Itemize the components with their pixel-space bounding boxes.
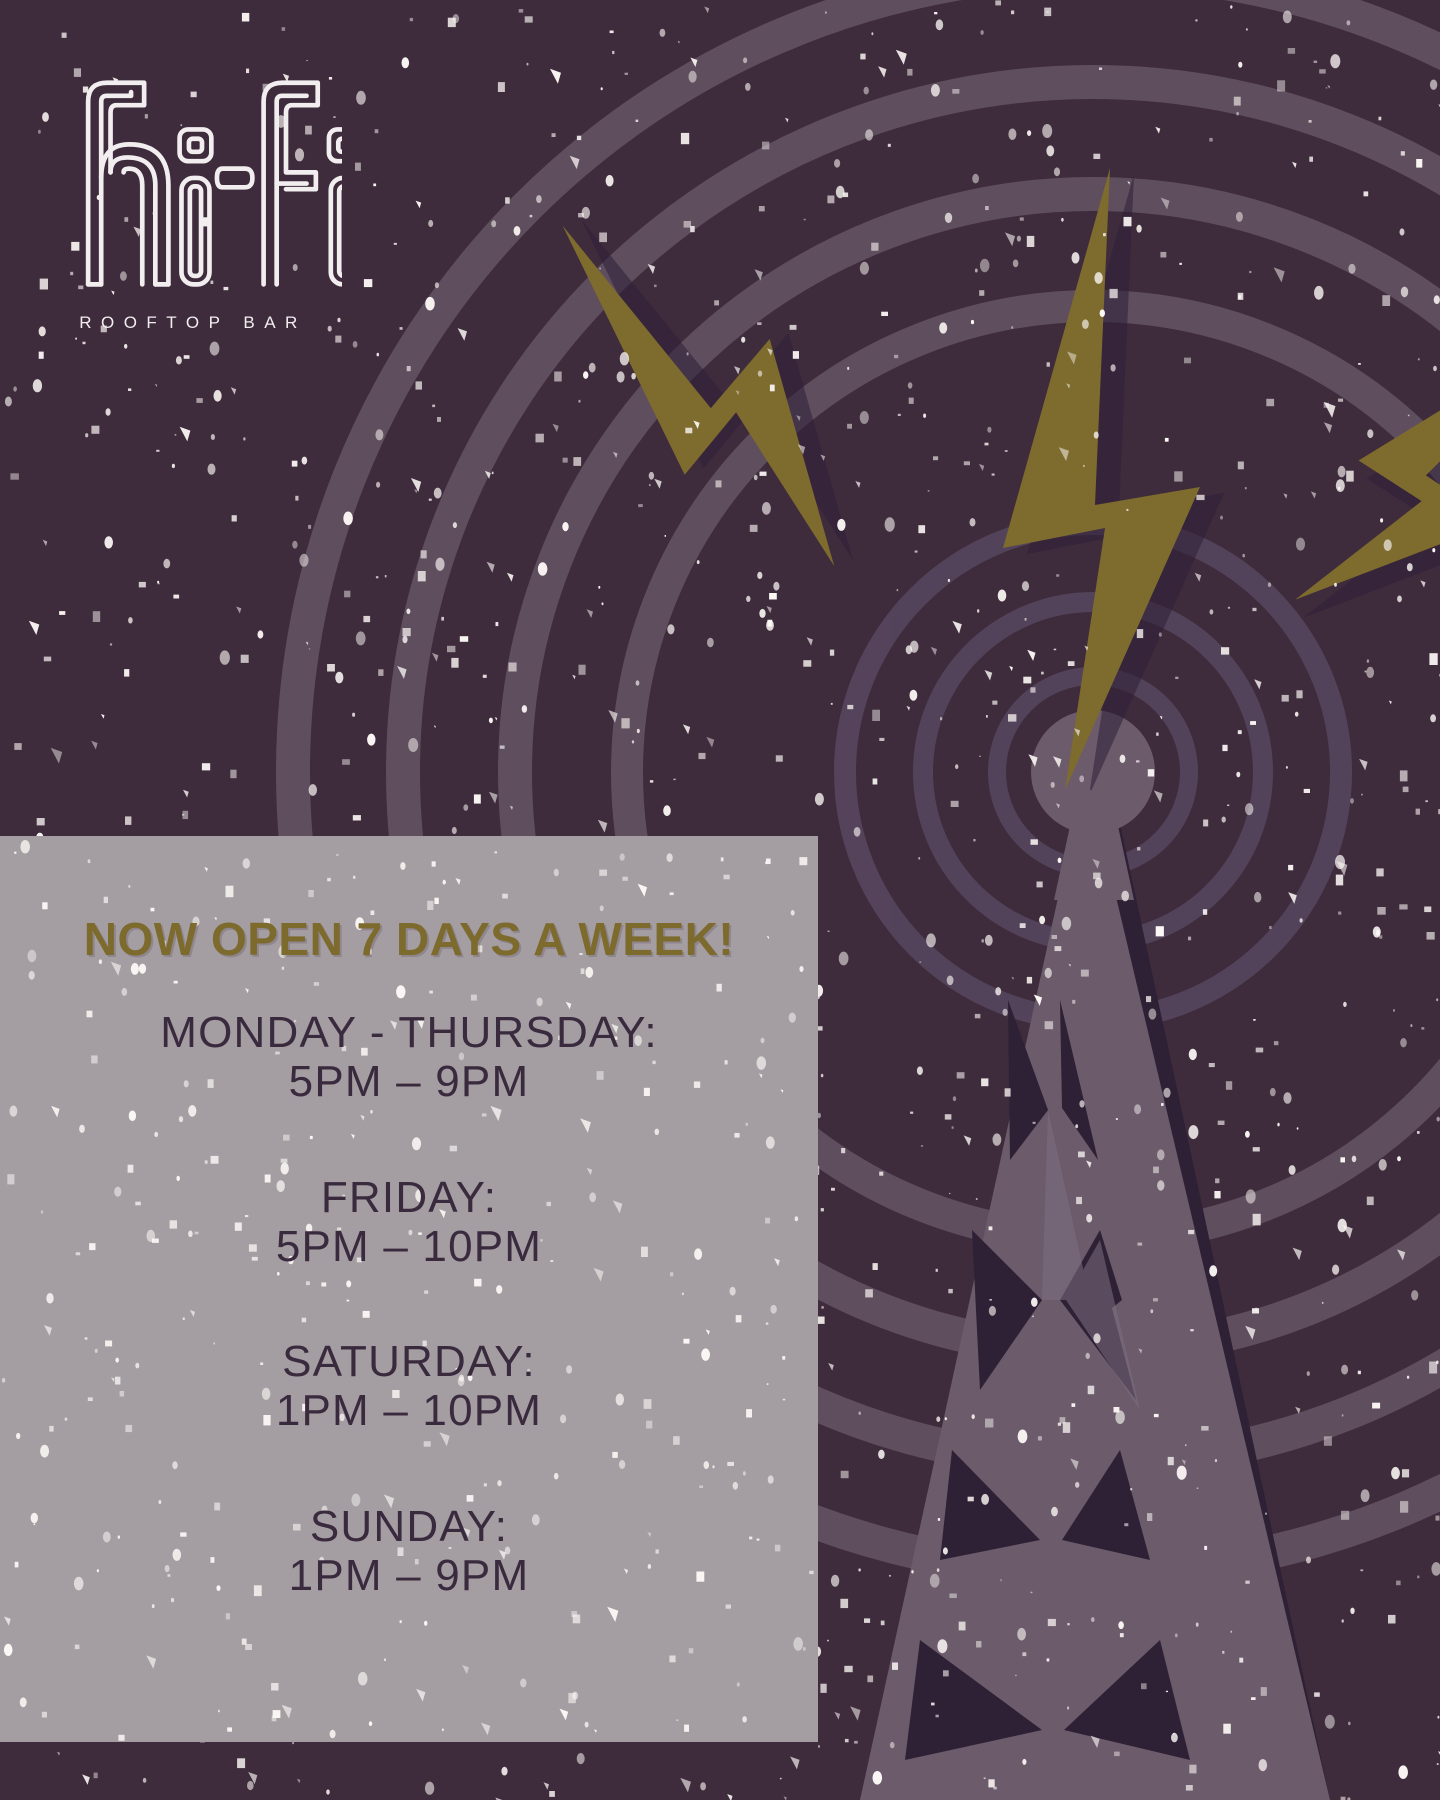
hours-time-value: 5PM – 9PM bbox=[0, 1057, 818, 1106]
brand-logo: ROOFTOP BAR bbox=[62, 62, 392, 362]
hours-row-sunday: SUNDAY: 1PM – 9PM bbox=[0, 1502, 818, 1601]
hours-day-label: SATURDAY: bbox=[0, 1337, 818, 1386]
hours-row-monday-thursday: MONDAY - THURSDAY: 5PM – 9PM bbox=[0, 1008, 818, 1107]
hours-time-value: 5PM – 10PM bbox=[0, 1222, 818, 1271]
brand-tagline: ROOFTOP BAR bbox=[62, 313, 324, 333]
hours-day-label: FRIDAY: bbox=[0, 1173, 818, 1222]
hours-row-saturday: SATURDAY: 1PM – 10PM bbox=[0, 1337, 818, 1436]
hifi-wordmark-icon bbox=[62, 62, 342, 307]
hours-day-label: SUNDAY: bbox=[0, 1502, 818, 1551]
hours-time-value: 1PM – 9PM bbox=[0, 1551, 818, 1600]
hours-row-friday: FRIDAY: 5PM – 10PM bbox=[0, 1173, 818, 1272]
hours-day-label: MONDAY - THURSDAY: bbox=[0, 1008, 818, 1057]
hours-panel: NOW OPEN 7 DAYS A WEEK! MONDAY - THURSDA… bbox=[0, 836, 818, 1742]
hours-headline: NOW OPEN 7 DAYS A WEEK! bbox=[0, 836, 818, 966]
hours-time-value: 1PM – 10PM bbox=[0, 1386, 818, 1435]
poster-canvas: ROOFTOP BAR NOW OPEN 7 DAYS A WEEK! MOND… bbox=[0, 0, 1440, 1800]
